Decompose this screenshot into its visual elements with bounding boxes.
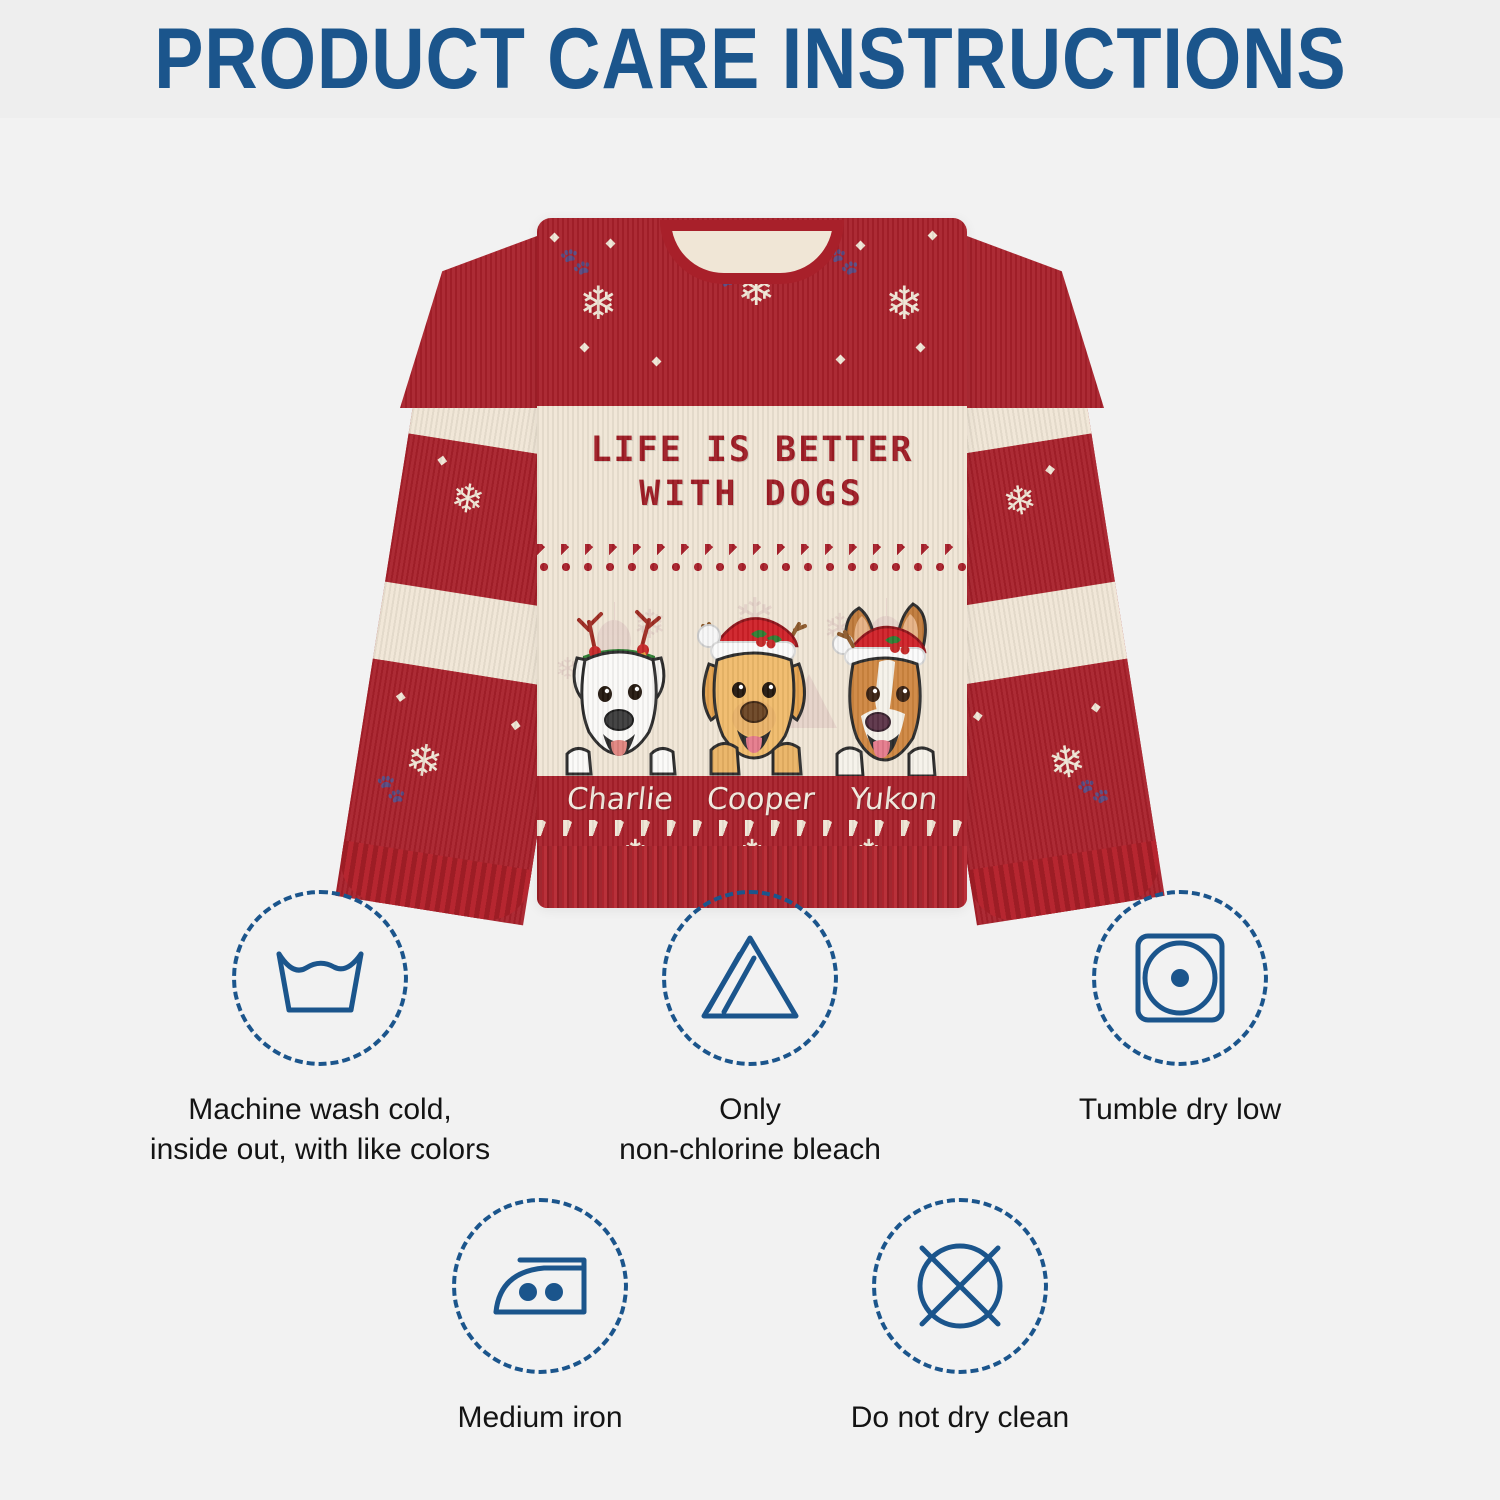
pet-name-cooper: Cooper [706,782,817,817]
sweater-slogan: LIFE IS BETTER WITH DOGS [537,428,967,516]
care-item-dry-clean[interactable]: Do not dry clean [750,1198,1170,1438]
care-row-1: Machine wash cold, inside out, with like… [0,890,1500,1170]
care-label-tumble-dry: Tumble dry low [1079,1090,1281,1130]
care-row-2: Medium iron Do not dry clean [0,1198,1500,1438]
mid-pattern-strip [537,542,967,578]
non-chlorine-bleach-icon[interactable] [662,890,838,1066]
care-label-machine-wash: Machine wash cold, inside out, with like… [150,1090,490,1170]
pet-name-charlie: Charlie [565,782,674,817]
slogan-line-2: WITH DOGS [537,472,967,516]
do-not-dry-clean-icon[interactable] [872,1198,1048,1374]
pet-portrait-charlie [555,598,683,776]
pet-name-yukon: Yukon [848,782,939,817]
graphic-text-band: LIFE IS BETTER WITH DOGS [537,406,967,542]
sweater-body: ❄ ❄ ❄ 🐾 🐾 🐾 LIFE [537,218,967,908]
care-label-dry-clean: Do not dry clean [851,1398,1069,1438]
machine-wash-icon[interactable] [232,890,408,1066]
page-title: PRODUCT CARE INSTRUCTIONS [154,10,1347,109]
care-label-iron: Medium iron [457,1398,622,1438]
product-image: ❄ ❄ 🐾 ❄ ❄ 🐾 [0,118,1500,878]
tumble-dry-low-icon[interactable] [1092,890,1268,1066]
pet-name-row: Charlie Cooper Yukon [537,782,967,817]
care-item-bleach[interactable]: Only non-chlorine bleach [535,890,965,1170]
care-item-iron[interactable]: Medium iron [330,1198,750,1438]
page-header: PRODUCT CARE INSTRUCTIONS [0,0,1500,118]
medium-iron-icon[interactable] [452,1198,628,1374]
care-item-machine-wash[interactable]: Machine wash cold, inside out, with like… [105,890,535,1170]
care-instructions-page: PRODUCT CARE INSTRUCTIONS ❄ ❄ 🐾 ❄ [0,0,1500,1500]
care-label-bleach: Only non-chlorine bleach [619,1090,881,1170]
care-item-tumble-dry[interactable]: Tumble dry low [965,890,1395,1170]
pet-portrait-yukon [823,598,949,776]
pet-portrait-cooper [689,594,819,776]
care-symbols-section: Machine wash cold, inside out, with like… [0,880,1500,1500]
slogan-line-1: LIFE IS BETTER [537,428,967,472]
pet-portrait-panel: ❄ ❄ ❄ ❄ [537,578,967,776]
